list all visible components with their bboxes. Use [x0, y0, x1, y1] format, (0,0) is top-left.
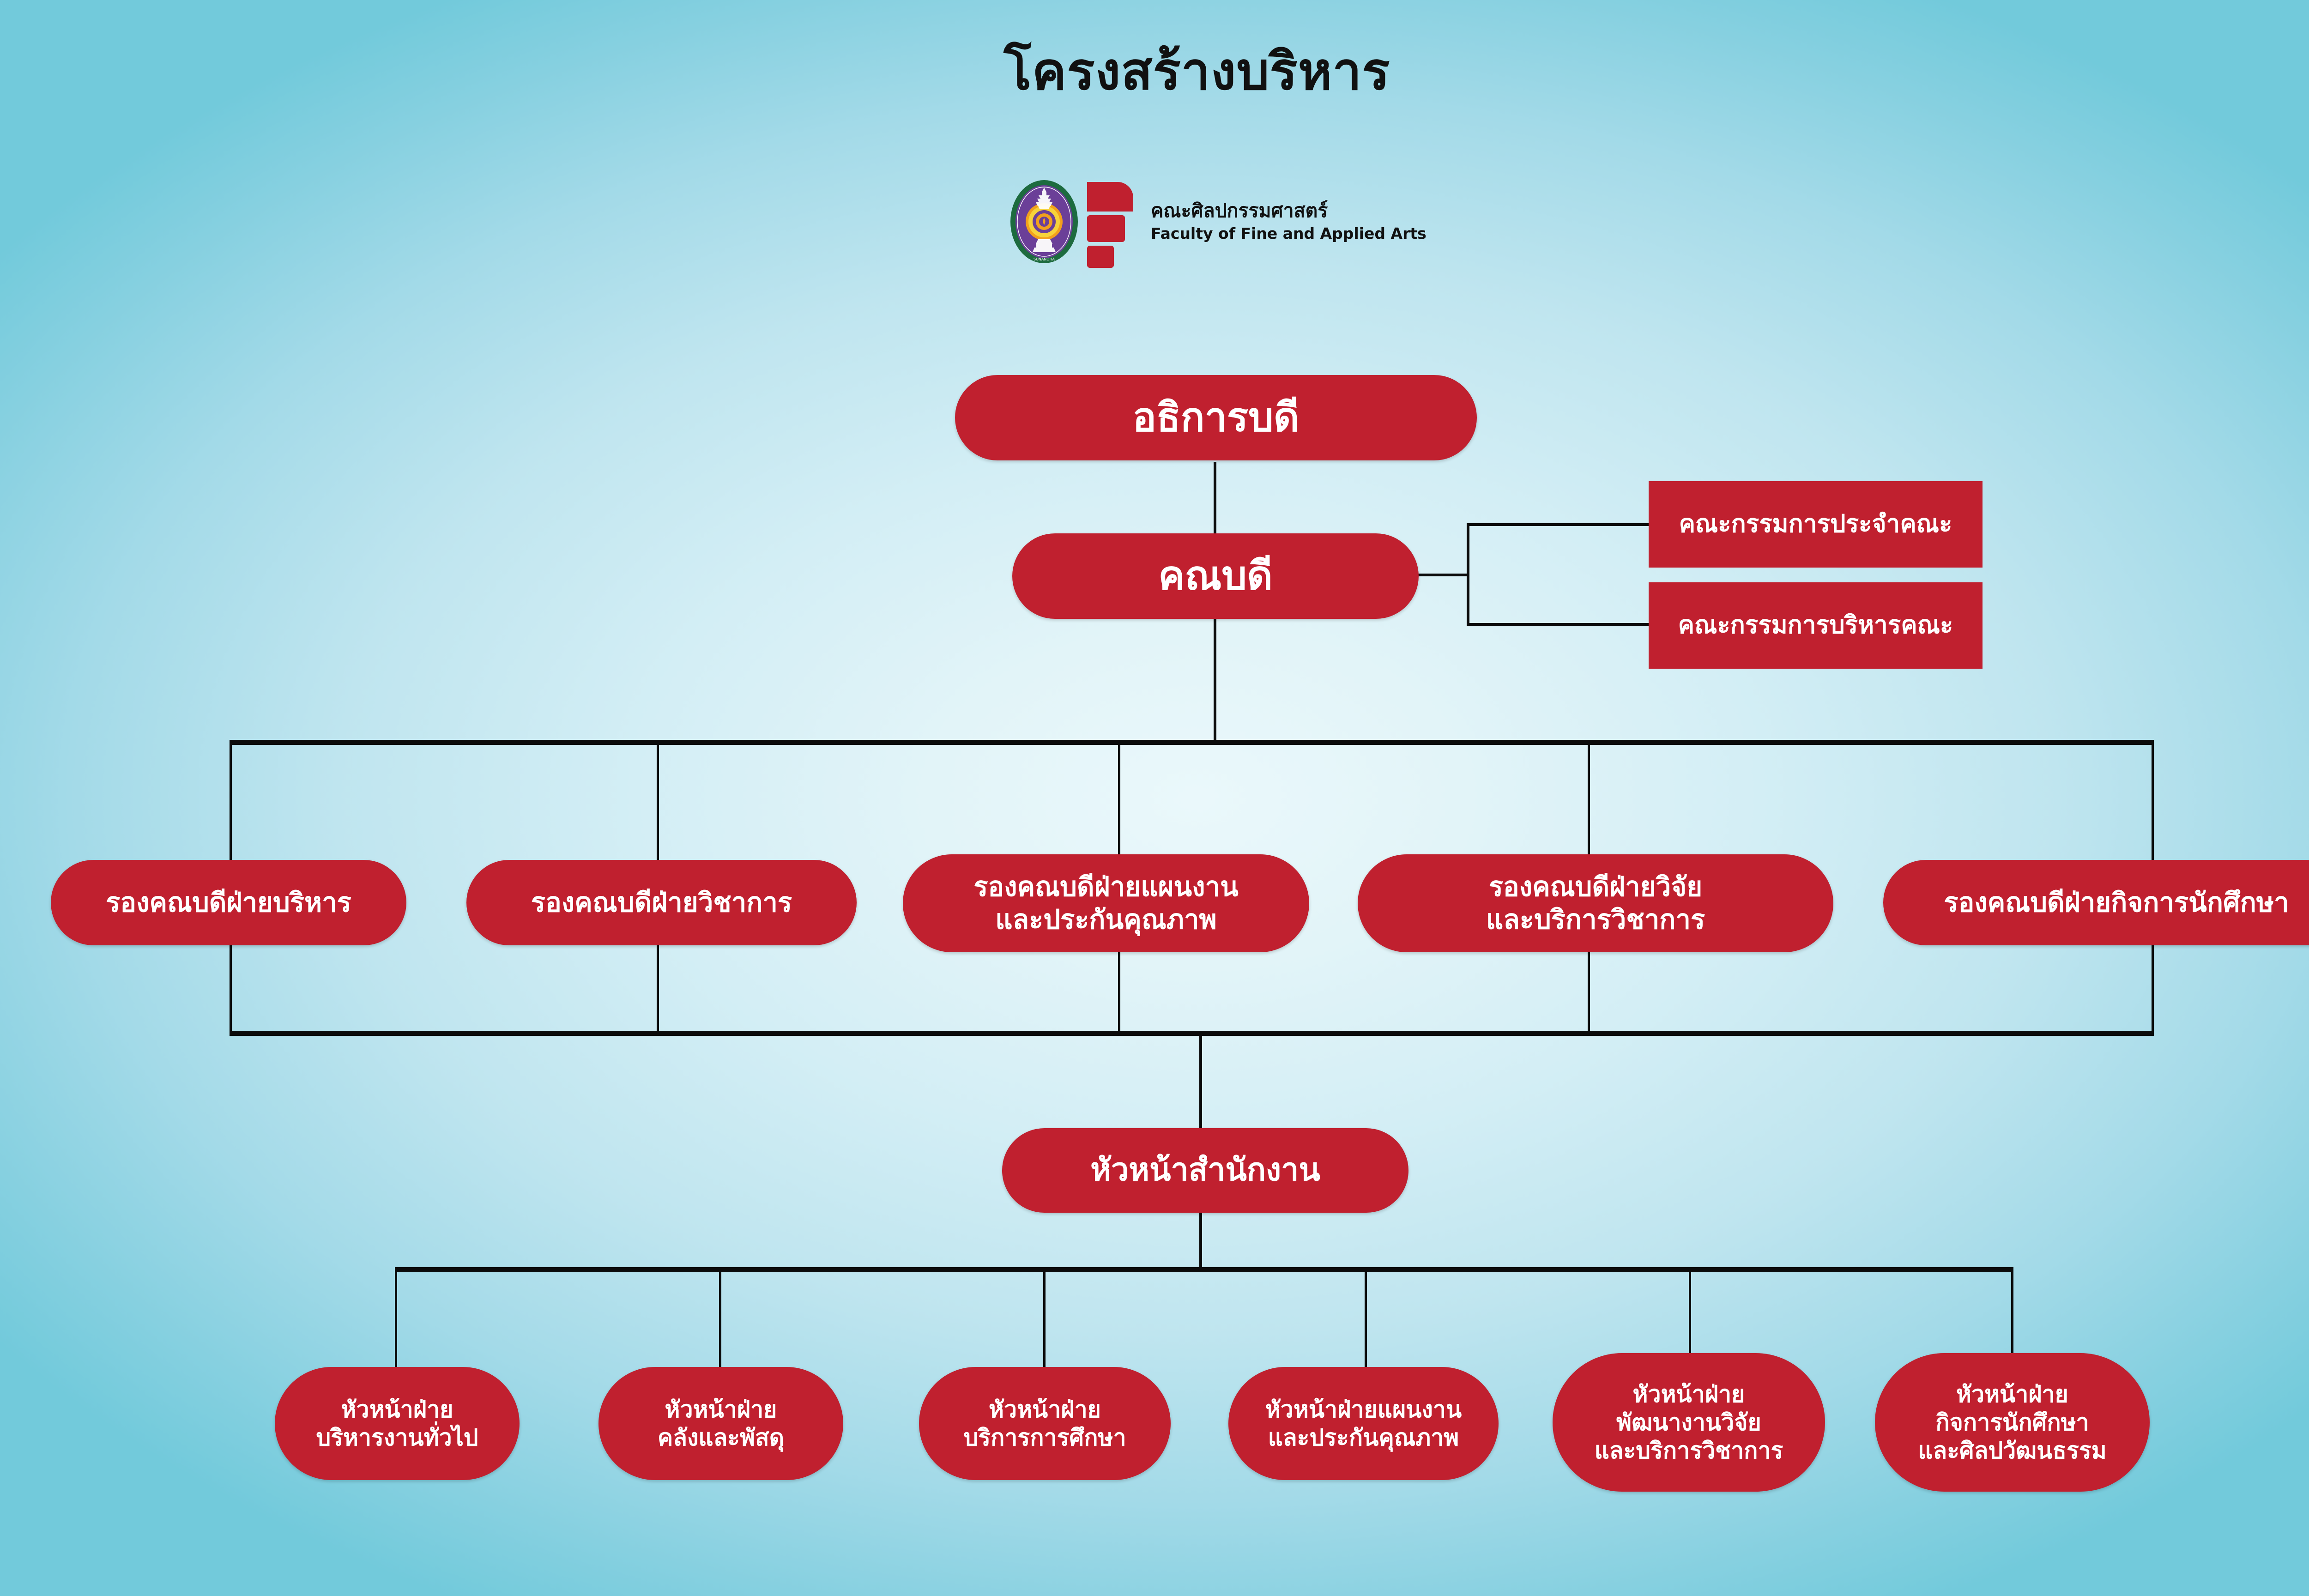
node-vd-planning-label: รองคณบดีฝ่ายแผนงาน และประกันคุณภาพ: [903, 871, 1309, 936]
edge-office-head-down: [1199, 1210, 1202, 1271]
node-vd-research-line1: รองคณบดีฝ่ายวิจัย: [1364, 871, 1827, 903]
node-head-student-line2: กิจการนักศึกษา: [1881, 1409, 2143, 1437]
faculty-logo: SUNANDHA คณะศิลปกรรมศาสตร์ Faculty of Fi…: [1009, 175, 1434, 268]
node-head-research-line1: หัวหน้าฝ่าย: [1559, 1380, 1819, 1409]
node-head-finance-label: หัวหน้าฝ่าย คลังและพัสดุ: [598, 1396, 843, 1452]
svg-text:SUNANDHA: SUNANDHA: [1034, 257, 1055, 261]
node-head-edu-service-label: หัวหน้าฝ่าย บริการการศึกษา: [919, 1396, 1171, 1452]
node-head-general-line1: หัวหน้าฝ่าย: [281, 1396, 513, 1424]
node-head-research-line2: พัฒนางานวิจัย: [1559, 1409, 1819, 1437]
node-head-finance-line1: หัวหน้าฝ่าย: [605, 1396, 837, 1424]
edge-drop-head-edu: [1043, 1267, 1046, 1370]
node-faculty-exec-board-label: คณะกรรมการบริหารคณะ: [1649, 611, 1983, 641]
node-head-finance[interactable]: หัวหน้าฝ่าย คลังและพัสดุ: [598, 1367, 843, 1480]
node-head-student-line3: และศิลปวัฒนธรรม: [1881, 1437, 2143, 1465]
node-head-edu-line2: บริการการศึกษา: [925, 1424, 1164, 1452]
node-vd-planning-line2: และประกันคุณภาพ: [909, 903, 1303, 936]
edge-to-office-head: [1199, 1031, 1202, 1129]
university-seal-icon: SUNANDHA: [1009, 179, 1079, 264]
node-faculty-board[interactable]: คณะกรรมการประจำคณะ: [1649, 481, 1983, 568]
node-head-planning-label: หัวหน้าฝ่ายแผนงาน และประกันคุณภาพ: [1228, 1396, 1499, 1452]
node-vd-research[interactable]: รองคณบดีฝ่ายวิจัย และบริการวิชาการ: [1358, 854, 1833, 952]
node-head-edu-service[interactable]: หัวหน้าฝ่าย บริการการศึกษา: [919, 1367, 1171, 1480]
node-faculty-board-label: คณะกรรมการประจำคณะ: [1649, 509, 1983, 539]
node-vd-admin[interactable]: รองคณบดีฝ่ายบริหาร: [51, 860, 406, 945]
node-head-research[interactable]: หัวหน้าฝ่าย พัฒนางานวิจัย และบริการวิชาก…: [1553, 1353, 1825, 1492]
node-head-plan-line1: หัวหน้าฝ่ายแผนงาน: [1235, 1396, 1492, 1424]
edge-dean-down: [1214, 619, 1216, 743]
edge-committee-board-top: [1467, 523, 1650, 526]
edge-drop-head-plan: [1365, 1267, 1367, 1370]
page-title: โครงสร้างบริหาร: [0, 30, 2309, 112]
node-faculty-exec-board[interactable]: คณะกรรมการบริหารคณะ: [1649, 582, 1983, 669]
edge-committee-board-bottom: [1467, 623, 1650, 626]
node-head-finance-line2: คลังและพัสดุ: [605, 1424, 837, 1452]
node-vd-admin-label: รองคณบดีฝ่ายบริหาร: [51, 886, 406, 919]
vicedean-bus-top: [230, 740, 2154, 745]
node-vd-student-label: รองคณบดีฝ่ายกิจการนักศึกษา: [1883, 886, 2309, 919]
node-head-research-label: หัวหน้าฝ่าย พัฒนางานวิจัย และบริการวิชาก…: [1553, 1380, 1825, 1465]
node-vd-student[interactable]: รองคณบดีฝ่ายกิจการนักศึกษา: [1883, 860, 2309, 945]
vicedean-bus-bottom: [230, 1031, 2154, 1036]
department-bus: [395, 1267, 2013, 1272]
node-head-plan-line2: และประกันคุณภาพ: [1235, 1424, 1492, 1452]
edge-dean-committee-stub: [1414, 574, 1469, 576]
node-head-edu-line1: หัวหน้าฝ่าย: [925, 1396, 1164, 1424]
node-head-research-line3: และบริการวิชาการ: [1559, 1437, 1819, 1465]
node-vd-planning-line1: รองคณบดีฝ่ายแผนงาน: [909, 871, 1303, 903]
node-vd-academic-label: รองคณบดีฝ่ายวิชาการ: [466, 886, 857, 919]
node-head-student[interactable]: หัวหน้าฝ่าย กิจการนักศึกษา และศิลปวัฒนธร…: [1875, 1353, 2150, 1492]
node-head-general[interactable]: หัวหน้าฝ่าย บริหารงานทั่วไป: [275, 1367, 520, 1480]
node-vd-research-line2: และบริการวิชาการ: [1364, 903, 1827, 936]
edge-drop-head-general: [395, 1267, 397, 1370]
node-head-general-line2: บริหารงานทั่วไป: [281, 1424, 513, 1452]
node-head-student-label: หัวหน้าฝ่าย กิจการนักศึกษา และศิลปวัฒนธร…: [1875, 1380, 2150, 1465]
node-office-head-label: หัวหน้าสำนักงาน: [1002, 1151, 1408, 1190]
node-president-label: อธิการบดี: [955, 393, 1477, 442]
node-head-general-label: หัวหน้าฝ่าย บริหารงานทั่วไป: [275, 1396, 520, 1452]
node-head-student-line1: หัวหน้าฝ่าย: [1881, 1380, 2143, 1409]
node-vd-academic[interactable]: รองคณบดีฝ่ายวิชาการ: [466, 860, 857, 945]
node-vd-research-label: รองคณบดีฝ่ายวิจัย และบริการวิชาการ: [1358, 871, 1833, 936]
edge-drop-head-finance: [719, 1267, 721, 1370]
faculty-name-thai: คณะศิลปกรรมศาสตร์: [1151, 200, 1427, 221]
org-chart-canvas: โครงสร้างบริหาร: [0, 0, 2309, 1596]
faculty-f-mark-icon: [1087, 182, 1139, 261]
node-office-head[interactable]: หัวหน้าสำนักงาน: [1002, 1128, 1408, 1213]
node-president[interactable]: อธิการบดี: [955, 375, 1477, 460]
node-dean[interactable]: คณบดี: [1012, 533, 1419, 619]
node-head-planning[interactable]: หัวหน้าฝ่ายแผนงาน และประกันคุณภาพ: [1228, 1367, 1499, 1480]
faculty-name-english: Faculty of Fine and Applied Arts: [1151, 224, 1427, 243]
faculty-wordmark: คณะศิลปกรรมศาสตร์ Faculty of Fine and Ap…: [1151, 200, 1427, 243]
node-dean-label: คณบดี: [1012, 552, 1419, 600]
edge-committee-bracket: [1467, 523, 1469, 626]
node-vd-planning[interactable]: รองคณบดีฝ่ายแผนงาน และประกันคุณภาพ: [903, 854, 1309, 952]
